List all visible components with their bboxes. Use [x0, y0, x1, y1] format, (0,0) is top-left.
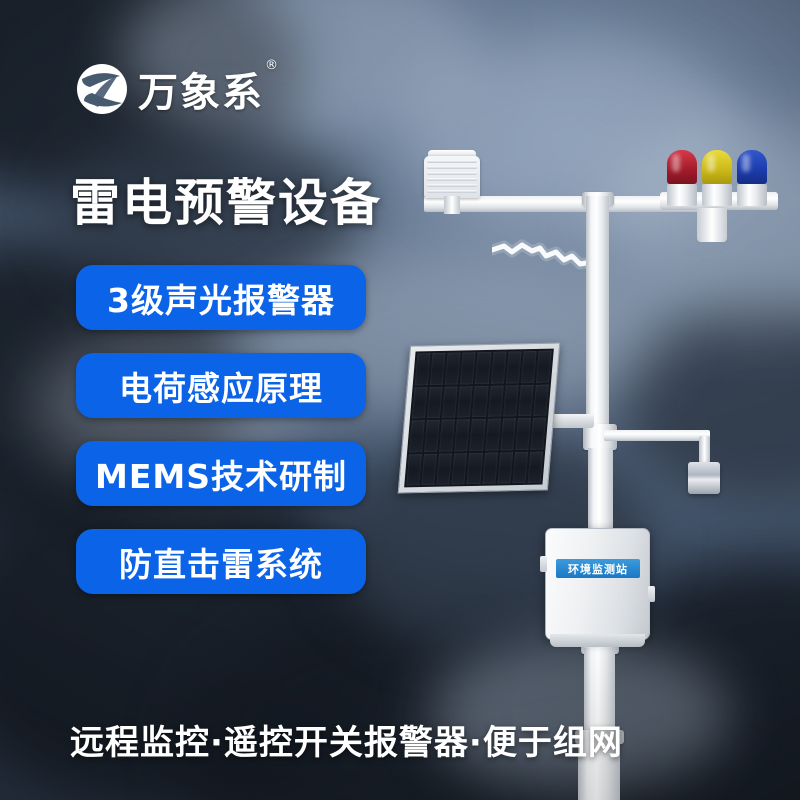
footer-tagline: 远程监控·遥控开关报警器·便于组网	[70, 715, 623, 764]
feature-pill[interactable]: MEMS技术研制	[76, 441, 366, 506]
registered-trademark-icon: ®	[265, 58, 280, 73]
brand-logo: 万象系 ®	[76, 60, 264, 118]
brand-name: 万象系 ®	[138, 60, 264, 118]
brand-name-text: 万象系	[138, 70, 264, 116]
feature-pill[interactable]: 电荷感应原理	[76, 353, 366, 418]
feature-pill-label: MEMS技术研制	[95, 450, 347, 498]
swirl-sphere-logo-icon	[76, 63, 128, 115]
page-title: 雷电预警设备	[70, 163, 382, 235]
feature-pill[interactable]: 3级声光报警器	[76, 265, 366, 330]
feature-pill-label: 3级声光报警器	[107, 274, 335, 322]
feature-pill[interactable]: 防直击雷系统	[76, 529, 366, 594]
feature-pill-list: 3级声光报警器电荷感应原理MEMS技术研制防直击雷系统	[76, 265, 366, 617]
feature-pill-label: 电荷感应原理	[119, 362, 323, 410]
banner-stage: 环境监测站 万象系 ® 雷电预警设备 3级声光报警器电荷感应原理MEMS技术研制…	[0, 0, 800, 800]
feature-pill-label: 防直击雷系统	[119, 538, 323, 586]
